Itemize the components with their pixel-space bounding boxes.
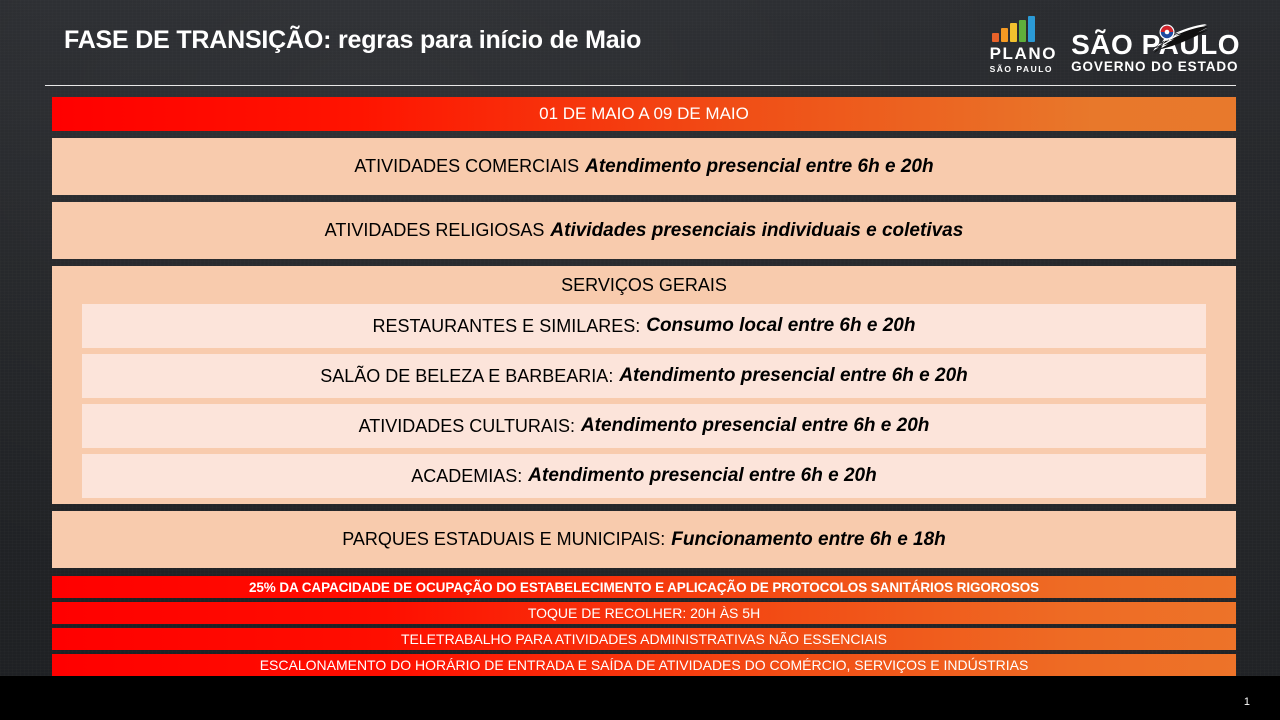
subrow-academias: ACADEMIAS: Atendimento presencial entre … [82, 454, 1206, 498]
slide: FASE DE TRANSIÇÃO: regras para início de… [0, 0, 1280, 720]
row-value: Atendimento presencial entre 6h e 20h [585, 156, 933, 178]
subrow-label: ACADEMIAS: [411, 466, 522, 487]
subrow-restaurantes: RESTAURANTES E SIMILARES: Consumo local … [82, 304, 1206, 348]
governo-logo-subtitle: GOVERNO DO ESTADO [1071, 60, 1240, 74]
plano-logo-subtitle: SÃO PAULO [990, 65, 1053, 74]
row-value: Funcionamento entre 6h e 18h [671, 529, 946, 551]
sao-paulo-flag-emblem-icon [1149, 24, 1211, 54]
page-number: 1 [1244, 696, 1250, 708]
rule-text: 25% DA CAPACIDADE DE OCUPAÇÃO DO ESTABEL… [249, 580, 1039, 595]
page-title: FASE DE TRANSIÇÃO: regras para início de… [64, 26, 641, 55]
title-divider [45, 85, 1236, 86]
date-range-banner: 01 DE MAIO A 09 DE MAIO [52, 97, 1236, 131]
servicos-gerais-title: SERVIÇOS GERAIS [82, 266, 1206, 304]
bar-chart-icon [992, 18, 1035, 42]
logo-group: PLANO SÃO PAULO SÃO PAULO GOVERNO DO EST… [990, 18, 1240, 76]
subrow-salao-de-beleza: SALÃO DE BELEZA E BARBEARIA: Atendimento… [82, 354, 1206, 398]
group-servicos-gerais: SERVIÇOS GERAIS RESTAURANTES E SIMILARES… [52, 266, 1236, 504]
subrow-value: Atendimento presencial entre 6h e 20h [528, 465, 876, 487]
subrow-value: Atendimento presencial entre 6h e 20h [581, 415, 929, 437]
subrow-label: ATIVIDADES CULTURAIS: [359, 416, 575, 437]
subrow-label: RESTAURANTES E SIMILARES: [373, 316, 641, 337]
date-range-text: 01 DE MAIO A 09 DE MAIO [539, 104, 749, 124]
rule-text: TOQUE DE RECOLHER: 20H ÀS 5H [528, 605, 760, 621]
rule-toque-de-recolher: TOQUE DE RECOLHER: 20H ÀS 5H [52, 602, 1236, 624]
row-label: PARQUES ESTADUAIS E MUNICIPAIS: [342, 529, 665, 550]
plano-logo-word: PLANO [990, 45, 1058, 62]
rule-teletrabalho: TELETRABALHO PARA ATIVIDADES ADMINISTRAT… [52, 628, 1236, 650]
row-label: ATIVIDADES COMERCIAIS [354, 156, 579, 177]
content-stack: 01 DE MAIO A 09 DE MAIO ATIVIDADES COMER… [52, 97, 1236, 676]
subrow-value: Consumo local entre 6h e 20h [646, 315, 915, 337]
row-parques-estaduais-municipais: PARQUES ESTADUAIS E MUNICIPAIS: Funciona… [52, 511, 1236, 568]
row-label: ATIVIDADES RELIGIOSAS [325, 220, 545, 241]
slide-header: FASE DE TRANSIÇÃO: regras para início de… [0, 0, 1280, 88]
row-atividades-religiosas: ATIVIDADES RELIGIOSAS Atividades presenc… [52, 202, 1236, 259]
subrow-label: SALÃO DE BELEZA E BARBEARIA: [320, 366, 613, 387]
rule-text: TELETRABALHO PARA ATIVIDADES ADMINISTRAT… [401, 631, 887, 647]
governo-estado-logo: SÃO PAULO GOVERNO DO ESTADO [1071, 32, 1240, 75]
plano-sao-paulo-logo: PLANO SÃO PAULO [990, 18, 1058, 76]
subrow-atividades-culturais: ATIVIDADES CULTURAIS: Atendimento presen… [82, 404, 1206, 448]
subrow-value: Atendimento presencial entre 6h e 20h [619, 365, 967, 387]
rule-text: ESCALONAMENTO DO HORÁRIO DE ENTRADA E SA… [260, 657, 1029, 673]
row-value: Atividades presenciais individuais e col… [550, 220, 963, 242]
footer-bar [0, 676, 1280, 720]
row-atividades-comerciais: ATIVIDADES COMERCIAIS Atendimento presen… [52, 138, 1236, 195]
rule-escalonamento-horario: ESCALONAMENTO DO HORÁRIO DE ENTRADA E SA… [52, 654, 1236, 676]
rule-capacidade-ocupacao: 25% DA CAPACIDADE DE OCUPAÇÃO DO ESTABEL… [52, 576, 1236, 598]
